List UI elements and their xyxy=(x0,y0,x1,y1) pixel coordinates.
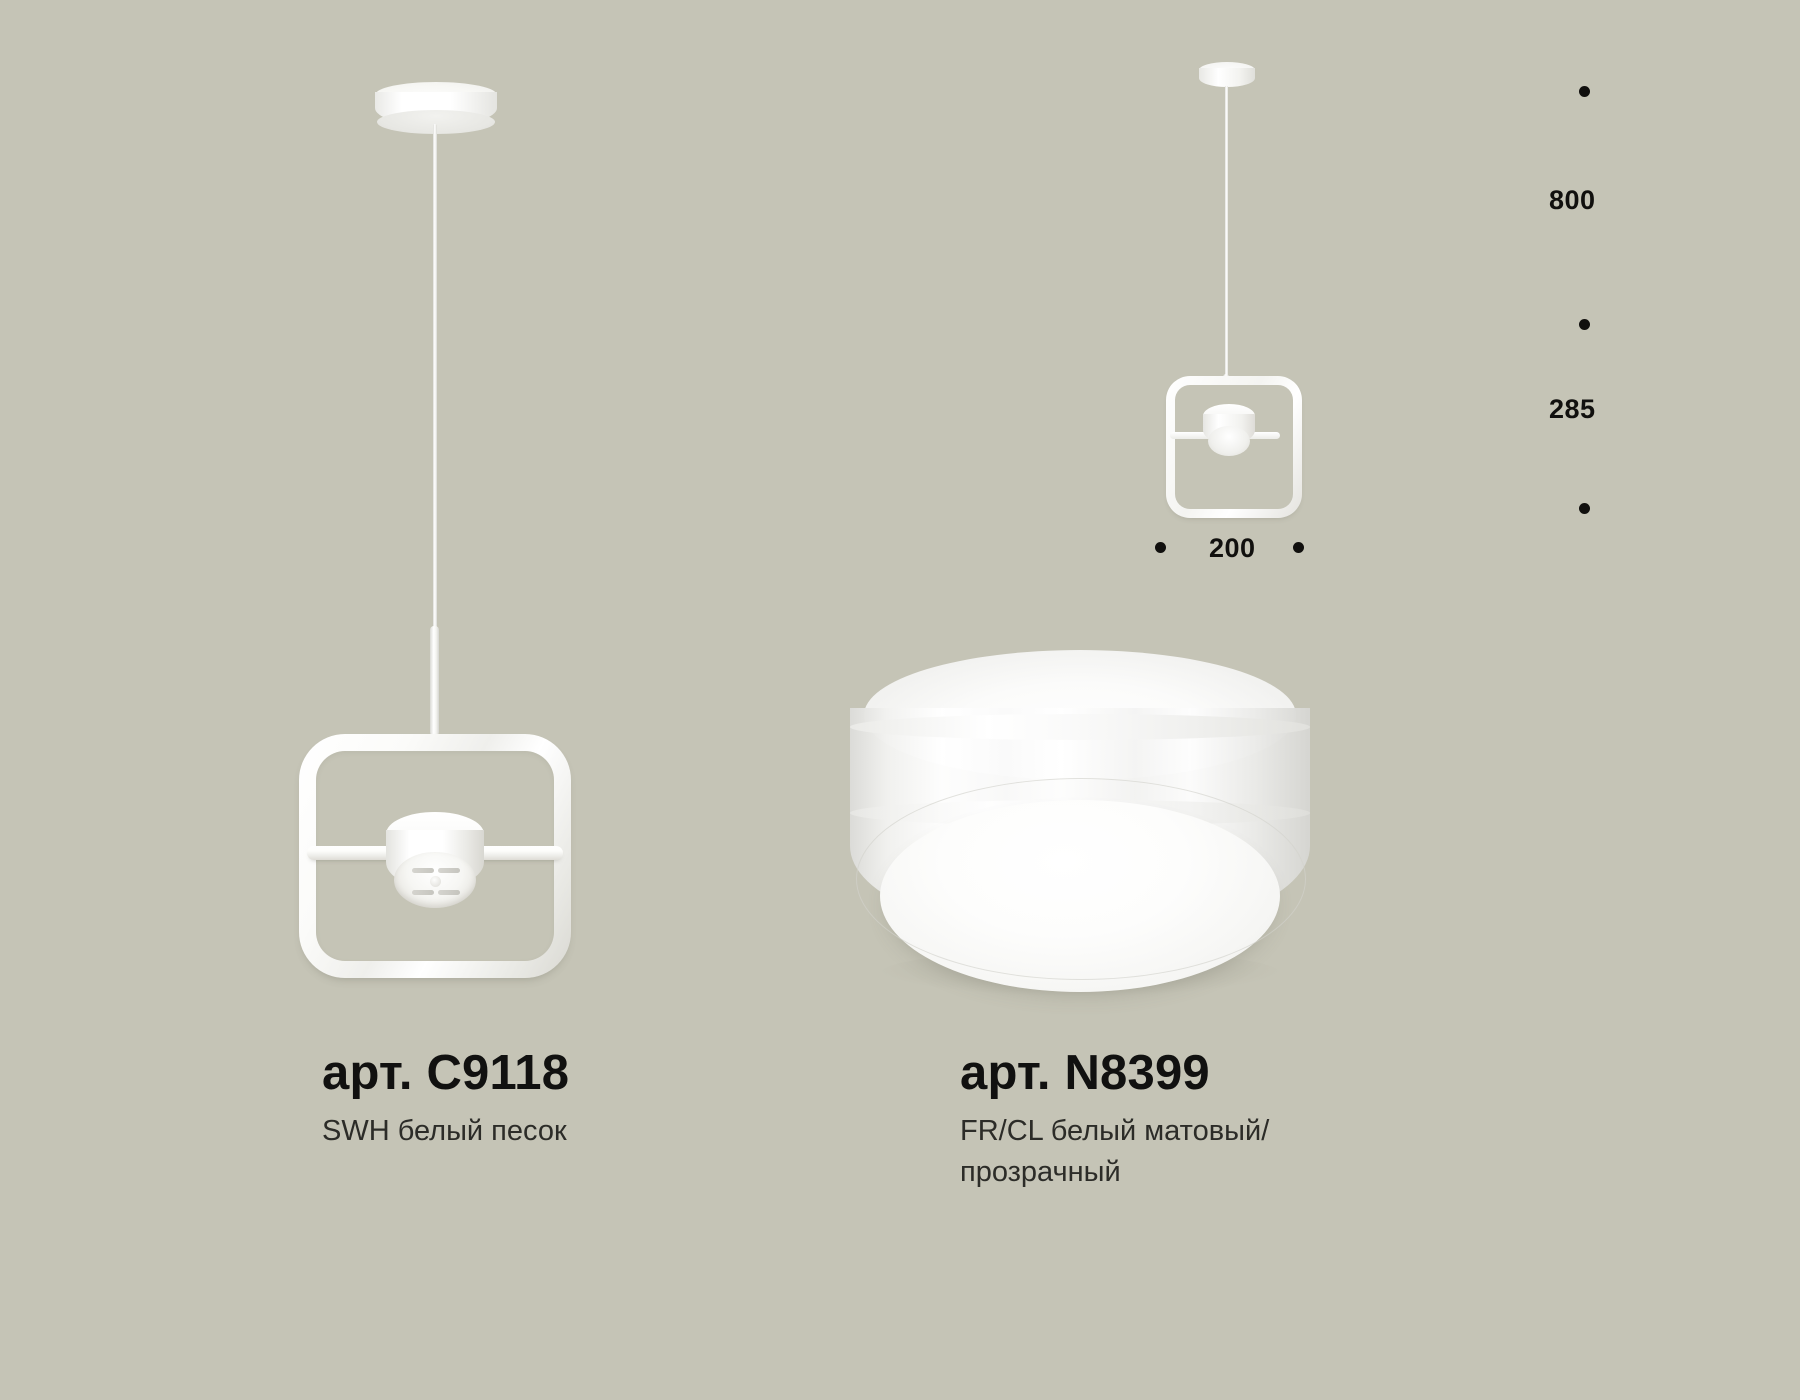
dimension-label-height-fixture: 285 xyxy=(1549,394,1596,425)
caption-c9118: арт. C9118 SWH белый песок xyxy=(322,1045,569,1152)
dimension-label-height-total: 800 xyxy=(1549,185,1596,216)
product-sheet-canvas: 800 285 200 арт. C9118 SWH белый песок а… xyxy=(0,0,1800,1400)
lamp-head-vent-slot xyxy=(412,890,434,895)
diagram-suspension-cable xyxy=(1225,86,1228,382)
dimension-label-width: 200 xyxy=(1209,533,1256,564)
dimension-dot-icon xyxy=(1579,503,1590,514)
lamp-head-vent-slot xyxy=(438,890,460,895)
suspension-rod xyxy=(430,626,439,736)
finish-description-right-line1: FR/CL белый матовый/ xyxy=(960,1115,1269,1147)
dimension-dot-icon xyxy=(1293,542,1304,553)
finish-description-right-line2: прозрачный xyxy=(960,1156,1121,1188)
dimension-dot-icon xyxy=(1155,542,1166,553)
article-number-right: арт. N8399 xyxy=(960,1045,1269,1101)
finish-description-right: FR/CL белый матовый/ прозрачный xyxy=(960,1111,1269,1193)
drum-ring-band xyxy=(850,714,1310,740)
dimension-dot-icon xyxy=(1579,319,1590,330)
caption-n8399: арт. N8399 FR/CL белый матовый/ прозрачн… xyxy=(960,1045,1269,1193)
suspension-cable xyxy=(433,124,437,634)
lamp-head xyxy=(386,812,484,910)
drum-rim-outline xyxy=(856,778,1306,980)
article-number-left: арт. C9118 xyxy=(322,1045,569,1101)
lamp-head-center-dot xyxy=(430,876,441,887)
diagram-head-diffuser xyxy=(1208,426,1250,456)
diagram-canopy-body xyxy=(1199,68,1255,87)
finish-description-left: SWH белый песок xyxy=(322,1111,569,1152)
lamp-head-vent-slot xyxy=(438,868,460,873)
dimension-dot-icon xyxy=(1579,86,1590,97)
product-illustration-c9118 xyxy=(0,0,900,1400)
drum-diffuser xyxy=(850,650,1310,1010)
diagram-lamp-head xyxy=(1203,404,1255,456)
lamp-head-vent-slot xyxy=(412,868,434,873)
